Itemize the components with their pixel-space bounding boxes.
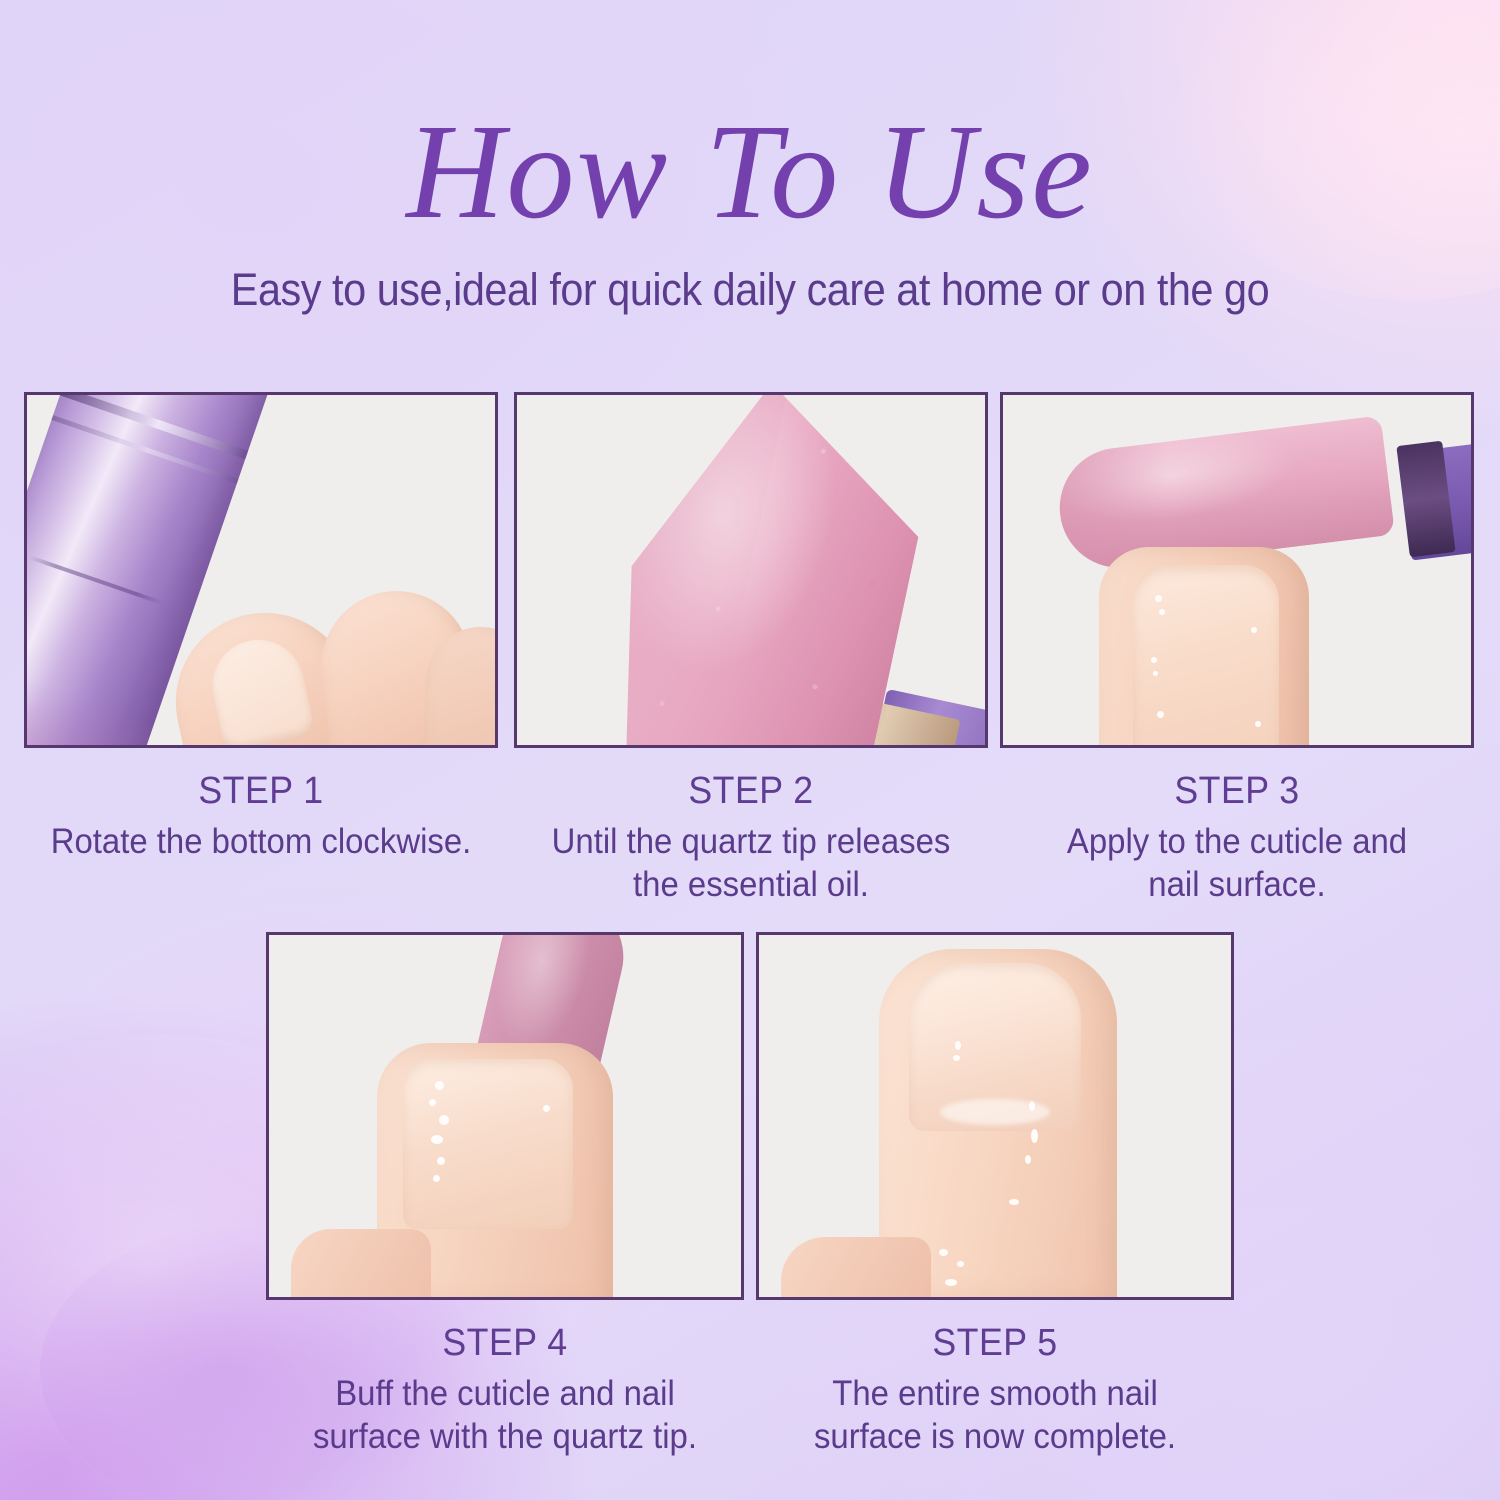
step-2-illustration bbox=[517, 395, 985, 745]
fingernail bbox=[1133, 565, 1279, 748]
oil-droplet bbox=[431, 1135, 443, 1144]
fingernail bbox=[204, 631, 316, 748]
step-3-description: Apply to the cuticle and nail surface. bbox=[1014, 821, 1460, 906]
step-card-5: STEP 5 The entire smooth nail surface is… bbox=[756, 932, 1234, 1458]
adjacent-finger bbox=[291, 1229, 431, 1300]
step-4-label: STEP 4 bbox=[280, 1322, 729, 1365]
oil-droplet bbox=[1029, 1101, 1035, 1111]
oil-droplet bbox=[433, 1175, 440, 1182]
step-1-label: STEP 1 bbox=[38, 770, 484, 813]
step-5-image bbox=[756, 932, 1234, 1300]
oil-droplet bbox=[1025, 1155, 1031, 1164]
step-2-caption: STEP 2 Until the quartz tip releases the… bbox=[514, 770, 988, 906]
header: How To Use Easy to use,ideal for quick d… bbox=[0, 0, 1500, 316]
oil-droplet bbox=[1155, 595, 1162, 602]
step-4-image bbox=[266, 932, 744, 1300]
step-1-illustration bbox=[27, 395, 495, 745]
oil-droplet bbox=[1159, 609, 1165, 615]
step-card-4: STEP 4 Buff the cuticle and nail surface… bbox=[266, 932, 744, 1458]
oil-droplet bbox=[543, 1105, 550, 1112]
step-2-description: Until the quartz tip releases the essent… bbox=[528, 821, 974, 906]
oil-droplet bbox=[1009, 1199, 1019, 1205]
fingernail bbox=[403, 1059, 573, 1229]
oil-droplet bbox=[1251, 627, 1257, 633]
step-2-label: STEP 2 bbox=[528, 770, 974, 813]
step-card-1: STEP 1 Rotate the bottom clockwise. bbox=[24, 392, 498, 864]
step-5-label: STEP 5 bbox=[770, 1322, 1219, 1365]
pen-tip-shadow bbox=[24, 659, 154, 748]
step-5-caption: STEP 5 The entire smooth nail surface is… bbox=[756, 1322, 1234, 1458]
oil-droplet bbox=[957, 1261, 964, 1267]
oil-droplet bbox=[429, 1099, 436, 1106]
finger bbox=[377, 1043, 613, 1300]
page-subtitle: Easy to use,ideal for quick daily care a… bbox=[60, 240, 1440, 316]
oil-droplet bbox=[435, 1081, 444, 1090]
step-1-description: Rotate the bottom clockwise. bbox=[38, 821, 484, 864]
step-card-2: STEP 2 Until the quartz tip releases the… bbox=[514, 392, 988, 906]
finger bbox=[879, 949, 1117, 1300]
oil-droplet bbox=[955, 1041, 961, 1050]
oil-droplet bbox=[1031, 1129, 1038, 1143]
step-1-image bbox=[24, 392, 498, 748]
step-5-description: The entire smooth nail surface is now co… bbox=[770, 1373, 1219, 1458]
oil-droplet bbox=[439, 1115, 449, 1125]
step-4-caption: STEP 4 Buff the cuticle and nail surface… bbox=[266, 1322, 744, 1458]
step-5-illustration bbox=[759, 935, 1231, 1297]
step-card-3: STEP 3 Apply to the cuticle and nail sur… bbox=[1000, 392, 1474, 906]
step-4-description: Buff the cuticle and nail surface with t… bbox=[280, 1373, 729, 1458]
oil-droplet bbox=[939, 1249, 948, 1256]
oil-droplet bbox=[1255, 721, 1261, 727]
finger bbox=[1099, 547, 1309, 748]
step-3-label: STEP 3 bbox=[1014, 770, 1460, 813]
step-3-illustration bbox=[1003, 395, 1471, 745]
infographic-page: How To Use Easy to use,ideal for quick d… bbox=[0, 0, 1500, 1500]
step-3-caption: STEP 3 Apply to the cuticle and nail sur… bbox=[1000, 770, 1474, 906]
page-title: How To Use bbox=[0, 0, 1500, 240]
pen-ring-lower bbox=[51, 415, 238, 484]
step-3-image bbox=[1000, 392, 1474, 748]
oil-droplet bbox=[1157, 711, 1164, 718]
oil-droplet bbox=[437, 1157, 445, 1165]
oil-droplet bbox=[1153, 671, 1158, 676]
oil-droplet bbox=[1151, 657, 1157, 663]
step-1-caption: STEP 1 Rotate the bottom clockwise. bbox=[24, 770, 498, 864]
pen-seam-line bbox=[28, 555, 163, 605]
oil-droplet bbox=[953, 1055, 960, 1061]
adjacent-finger bbox=[781, 1237, 931, 1300]
step-2-image bbox=[514, 392, 988, 748]
fingernail bbox=[909, 963, 1081, 1131]
oil-droplet bbox=[945, 1279, 957, 1286]
step-4-illustration bbox=[269, 935, 741, 1297]
